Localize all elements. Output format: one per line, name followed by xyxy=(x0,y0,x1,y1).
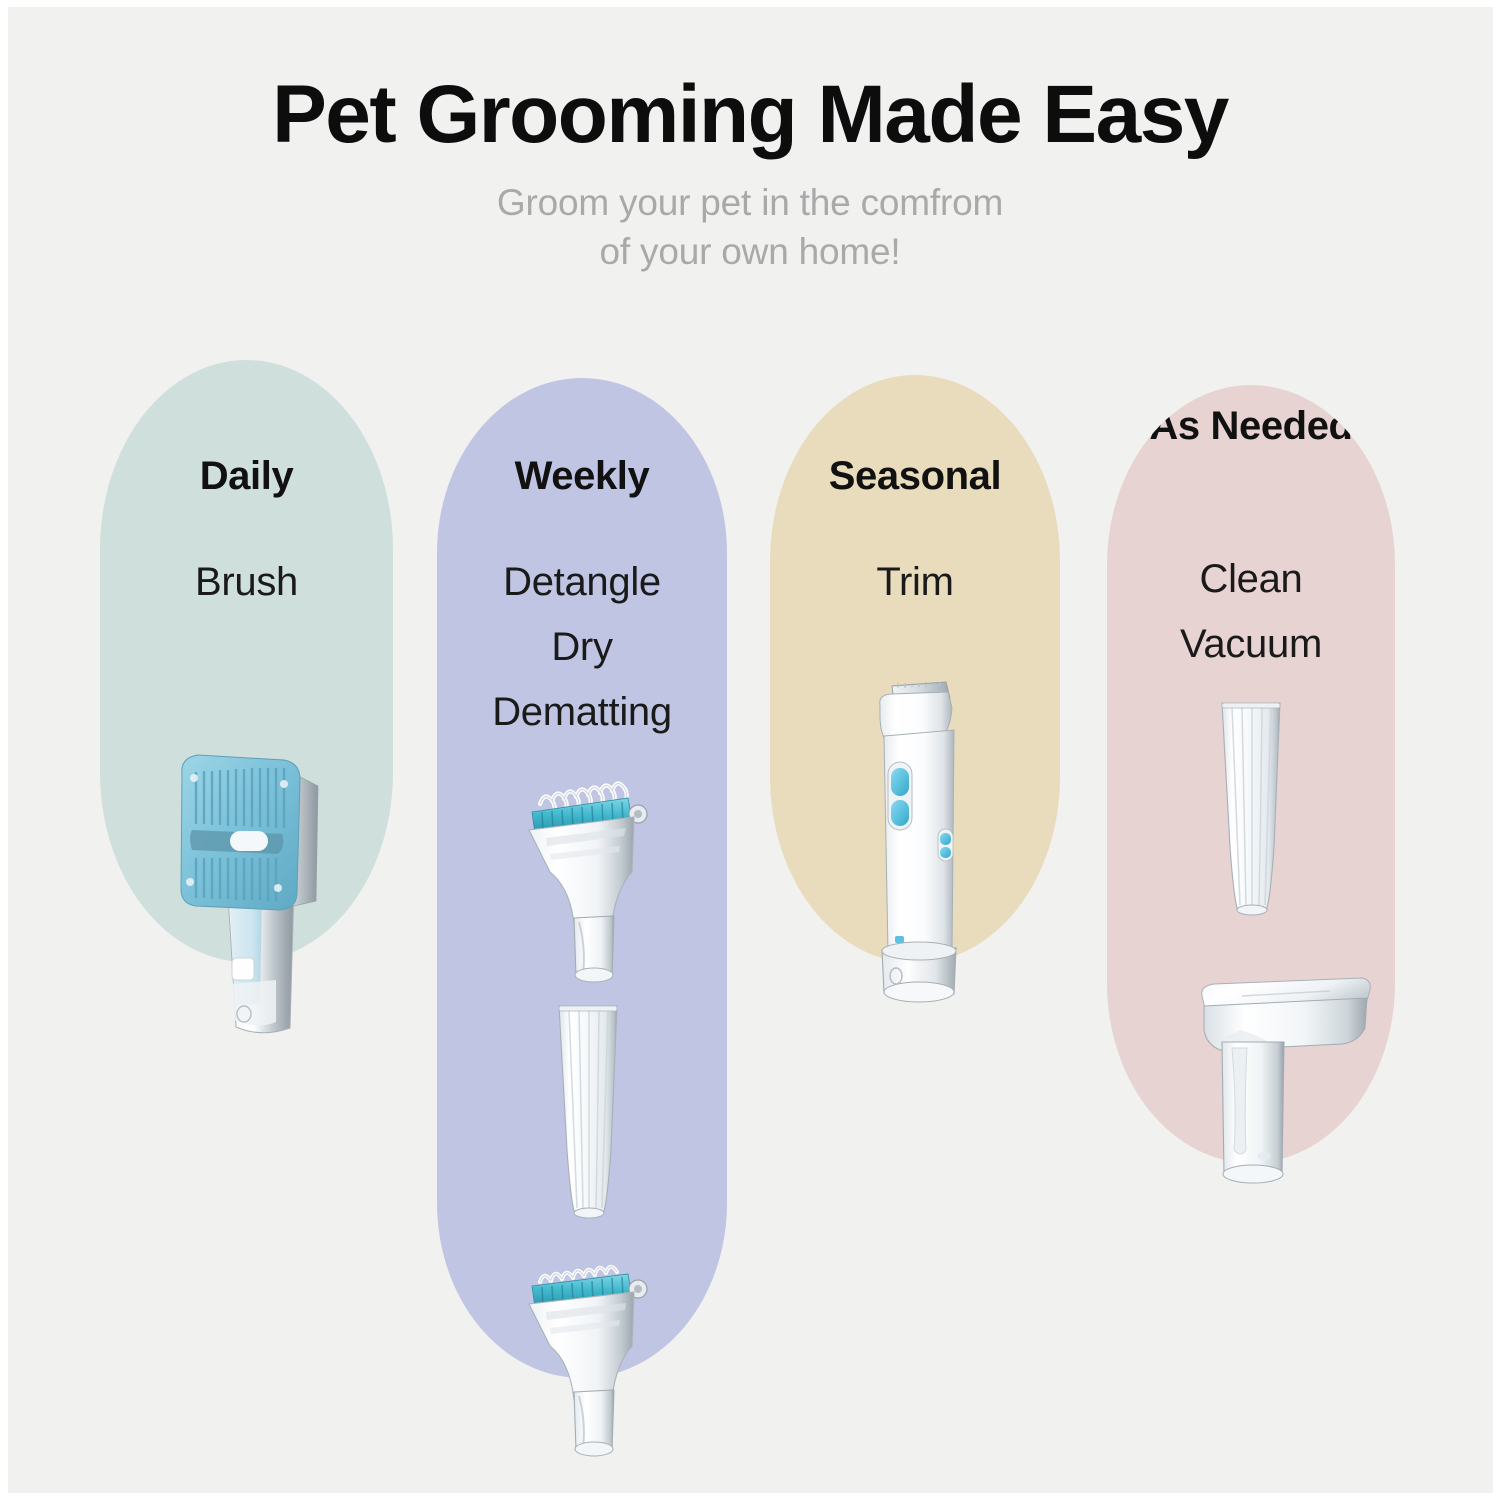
column-daily-label-line-1: Daily xyxy=(200,454,294,498)
page-title: Pet Grooming Made Easy xyxy=(0,72,1500,157)
frame-right xyxy=(1493,0,1500,1499)
subtitle-line-2: of your own home! xyxy=(0,228,1500,277)
product-wide-vacuum-head xyxy=(1180,960,1380,1200)
frame-left xyxy=(0,0,8,1499)
column-asneeded-label-line-2: Needed xyxy=(1210,404,1352,448)
list-item: Clean xyxy=(1107,547,1395,612)
infographic-canvas: Pet Grooming Made Easy Groom your pet in… xyxy=(0,0,1500,1499)
product-detangle-nozzle-tube xyxy=(543,1390,643,1490)
column-daily-label: Daily xyxy=(100,453,393,500)
column-weekly-label: Weekly xyxy=(437,453,727,500)
list-item: Trim xyxy=(770,550,1060,615)
column-seasonal-items: Trim xyxy=(770,550,1060,615)
column-daily-items: Brush xyxy=(100,550,393,615)
column-weekly-label-line-1: Weekly xyxy=(515,454,650,498)
column-asneeded-label: As Needed xyxy=(1107,403,1395,450)
list-item: Dematting xyxy=(437,680,727,745)
product-grooming-brush-head xyxy=(166,746,346,1036)
frame-bottom xyxy=(0,1493,1500,1499)
list-item: Dry xyxy=(437,615,727,680)
product-clipper-trimmer xyxy=(852,664,982,1014)
column-asneeded-label-line-1: As xyxy=(1149,404,1199,448)
product-dematting-attachment xyxy=(516,772,666,992)
page-subtitle: Groom your pet in the comfrom of your ow… xyxy=(0,179,1500,277)
list-item: Detangle xyxy=(437,550,727,615)
column-seasonal-label: Seasonal xyxy=(770,453,1060,500)
column-seasonal-label-line-1: Seasonal xyxy=(829,454,1001,498)
column-weekly-items: Detangle Dry Dematting xyxy=(437,550,727,744)
product-dryer-nozzle xyxy=(545,1000,635,1225)
list-item: Vacuum xyxy=(1107,612,1395,677)
product-vacuum-nozzle xyxy=(1208,697,1298,922)
frame-top xyxy=(0,0,1500,7)
subtitle-line-1: Groom your pet in the comfrom xyxy=(0,179,1500,228)
header: Pet Grooming Made Easy Groom your pet in… xyxy=(0,72,1500,277)
list-item: Brush xyxy=(100,550,393,615)
column-asneeded-items: Clean Vacuum xyxy=(1107,547,1395,677)
